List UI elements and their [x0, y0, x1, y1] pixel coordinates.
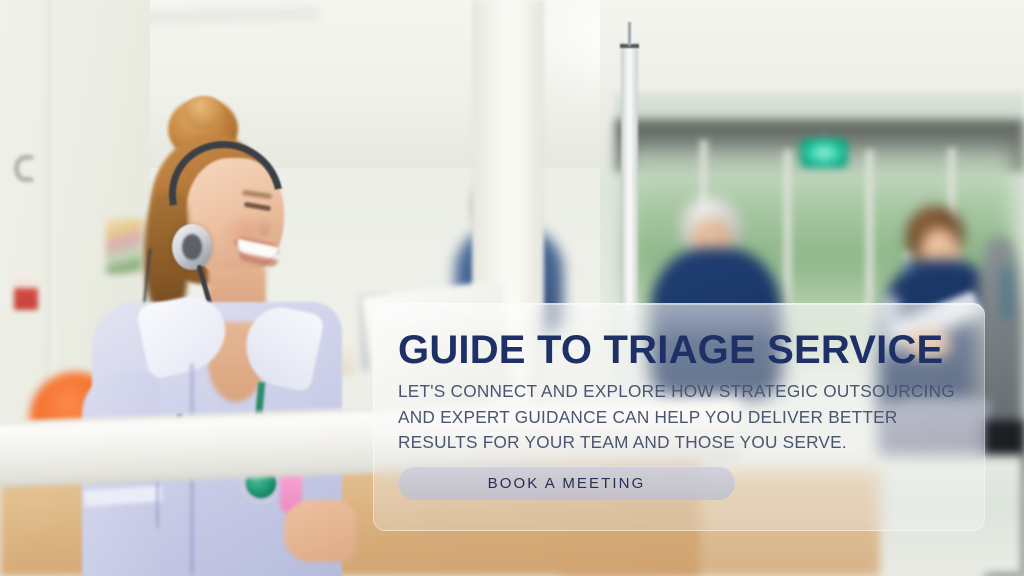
forearm	[284, 500, 356, 562]
page-title: GUIDE TO TRIAGE SERVICE	[398, 330, 968, 370]
subheadline-line: RESULTS FOR YOUR TEAM AND THOSE YOU SERV…	[398, 430, 968, 456]
book-a-meeting-button[interactable]: BOOK A MEETING	[398, 466, 735, 500]
subheadline-line: LET'S CONNECT AND EXPLORE HOW STRATEGIC …	[398, 379, 968, 405]
staff-lanyard	[1003, 266, 1011, 320]
wall-sign-red	[14, 272, 38, 310]
subheadline-line: AND EXPERT GUIDANCE CAN HELP YOU DELIVER…	[398, 405, 968, 431]
door-frame	[47, 0, 56, 420]
hero-banner: GUIDE TO TRIAGE SERVICE LET'S CONNECT AN…	[0, 0, 1024, 576]
antenna-icon	[628, 22, 631, 46]
door-handle-icon	[14, 155, 36, 182]
banner-subheadline: LET'S CONNECT AND EXPLORE HOW STRATEGIC …	[398, 379, 968, 456]
headset-earcup-inner	[182, 234, 202, 260]
banner-content: GUIDE TO TRIAGE SERVICE LET'S CONNECT AN…	[398, 330, 968, 456]
hair-bun-top	[184, 96, 224, 130]
exit-sign-icon	[800, 138, 848, 168]
